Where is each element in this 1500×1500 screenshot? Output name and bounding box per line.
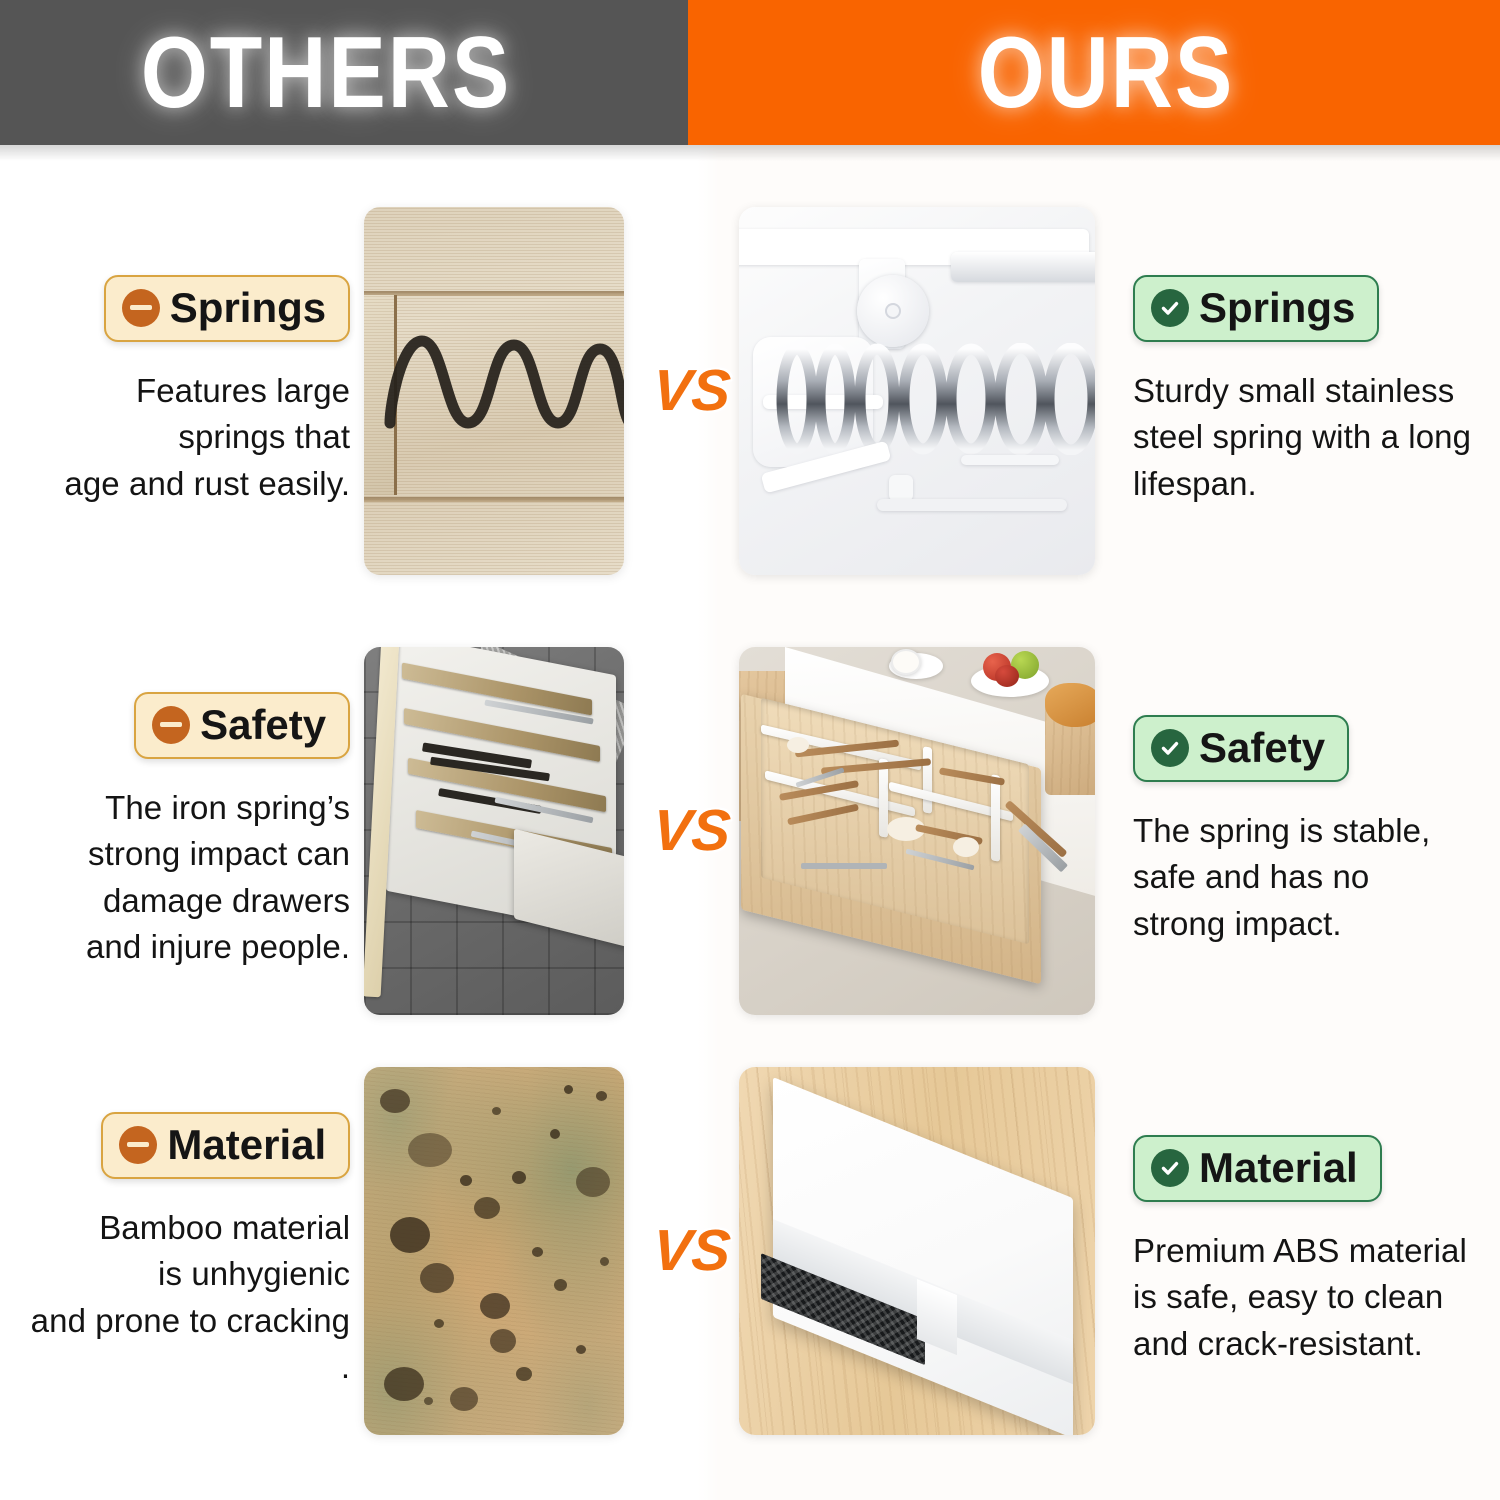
material-others-image-column (364, 1067, 645, 1435)
springs-ours-image-column (739, 207, 1115, 575)
springs-others-image (364, 207, 624, 575)
check-circle-icon (1151, 289, 1189, 327)
mold-spot (380, 1089, 410, 1113)
mech-slot (951, 252, 1095, 282)
safety-ours-text: Safety The spring is stable, safe and ha… (1115, 715, 1500, 947)
desc-line: lifespan. (1133, 461, 1471, 507)
safety-vs-separator: VS (645, 802, 739, 860)
springs-ours-text: Springs Sturdy small stainless steel spr… (1115, 275, 1500, 507)
safety-others-image-column (364, 647, 645, 1015)
spoon-head (787, 737, 809, 753)
desc-line: and crack-resistant. (1133, 1321, 1467, 1367)
coffee-cup (891, 649, 921, 675)
spoon-head (953, 837, 979, 857)
material-others-badge-label: Material (167, 1121, 326, 1168)
minus-circle-icon (122, 289, 160, 327)
desc-line: damage drawers (86, 878, 350, 924)
black-zigzag-spring-icon (382, 327, 624, 437)
header-others-title: OTHERS (141, 22, 511, 123)
desc-line: safe and has no (1133, 854, 1430, 900)
material-vs-separator: VS (645, 1222, 739, 1280)
safety-others-badge: Safety (134, 692, 350, 759)
springs-others-text: Springs Features large springs that age … (0, 275, 364, 507)
material-ours-text: Material Premium ABS material is safe, e… (1115, 1135, 1500, 1367)
safety-ours-image (739, 647, 1095, 1015)
safety-ours-badge-label: Safety (1199, 724, 1325, 771)
drawer-handle (801, 863, 887, 869)
desc-line: is safe, easy to clean (1133, 1274, 1467, 1320)
material-others-image (364, 1067, 624, 1435)
desc-line: The spring is stable, (1133, 808, 1430, 854)
desc-line: is unhygienic (31, 1251, 350, 1297)
springs-ours-image (739, 207, 1095, 575)
safety-others-badge-label: Safety (200, 701, 326, 748)
white-divider-vertical (879, 758, 888, 837)
mold-spot (420, 1263, 454, 1293)
stainless-coil-spring-icon (773, 343, 1095, 455)
springs-others-badge-label: Springs (170, 284, 326, 331)
wood-groove-bottom (364, 497, 624, 502)
material-ours-badge-label: Material (1199, 1144, 1358, 1191)
header-others: OTHERS (0, 0, 688, 145)
mold-spot (474, 1197, 500, 1219)
desc-line: Bamboo material (31, 1205, 350, 1251)
material-ours-description: Premium ABS material is safe, easy to cl… (1133, 1228, 1467, 1367)
desc-line: Sturdy small stainless (1133, 368, 1471, 414)
springs-others-badge: Springs (104, 275, 350, 342)
white-divider-vertical (923, 746, 932, 813)
comparison-row-material: Material Bamboo material is unhygienic a… (0, 1056, 1500, 1446)
material-ours-badge: Material (1133, 1135, 1382, 1202)
desc-line: and prone to cracking (31, 1298, 350, 1344)
header-bar: OTHERS OURS (0, 0, 1500, 145)
mold-spot (408, 1133, 452, 1167)
white-divider-vertical (991, 774, 1000, 861)
mech-guide (961, 455, 1059, 465)
safety-others-image (364, 647, 624, 1015)
safety-ours-image-column (739, 647, 1115, 1015)
mold-spot (450, 1387, 478, 1411)
mold-spot (490, 1329, 516, 1353)
desc-line: age and rust easily. (64, 461, 350, 507)
springs-others-description: Features large springs that age and rust… (64, 368, 350, 507)
check-circle-icon (1151, 1149, 1189, 1187)
springs-ours-description: Sturdy small stainless steel spring with… (1133, 368, 1471, 507)
springs-others-image-column (364, 207, 645, 575)
header-ours: OURS (688, 0, 1500, 145)
desc-line: steel spring with a long (1133, 414, 1471, 460)
comparison-row-springs: Springs Features large springs that age … (0, 196, 1500, 586)
mold-spot (576, 1167, 610, 1197)
mold-spot (480, 1293, 510, 1319)
mech-stop-block (889, 475, 913, 501)
wood-groove-top (364, 291, 624, 296)
desc-line: Features large (64, 368, 350, 414)
minus-circle-icon (119, 1126, 157, 1164)
mech-pivot-hub (857, 275, 929, 347)
vs-label: VS (651, 362, 732, 420)
header-ours-title: OURS (978, 22, 1234, 123)
comparison-infographic: OTHERS OURS Springs Features large sprin… (0, 0, 1500, 1500)
vs-label: VS (651, 1222, 732, 1280)
comparison-row-safety: Safety The iron spring’s strong impact c… (0, 636, 1500, 1026)
desc-line: and injure people. (86, 924, 350, 970)
material-ours-image-column (739, 1067, 1115, 1435)
mold-spot (384, 1367, 424, 1401)
check-circle-icon (1151, 729, 1189, 767)
red-apple (995, 665, 1019, 687)
desc-line: strong impact can (86, 831, 350, 877)
desc-line: strong impact. (1133, 901, 1430, 947)
material-others-description: Bamboo material is unhygienic and prone … (31, 1205, 350, 1390)
safety-ours-description: The spring is stable, safe and has no st… (1133, 808, 1430, 947)
material-others-text: Material Bamboo material is unhygienic a… (0, 1112, 364, 1390)
safety-others-description: The iron spring’s strong impact can dama… (86, 785, 350, 970)
mold-spot (390, 1217, 430, 1253)
desc-line: springs that (64, 414, 350, 460)
material-others-badge: Material (101, 1112, 350, 1179)
material-ours-image (739, 1067, 1095, 1435)
desc-line-trailing-period: . (31, 1344, 350, 1390)
minus-circle-icon (152, 706, 190, 744)
safety-ours-badge: Safety (1133, 715, 1349, 782)
springs-ours-badge-label: Springs (1199, 284, 1355, 331)
springs-ours-badge: Springs (1133, 275, 1379, 342)
springs-vs-separator: VS (645, 362, 739, 420)
desc-line: The iron spring’s (86, 785, 350, 831)
vs-label: VS (651, 802, 732, 860)
desc-line: Premium ABS material (1133, 1228, 1467, 1274)
mech-base-rail (877, 499, 1067, 511)
safety-others-text: Safety The iron spring’s strong impact c… (0, 692, 364, 970)
